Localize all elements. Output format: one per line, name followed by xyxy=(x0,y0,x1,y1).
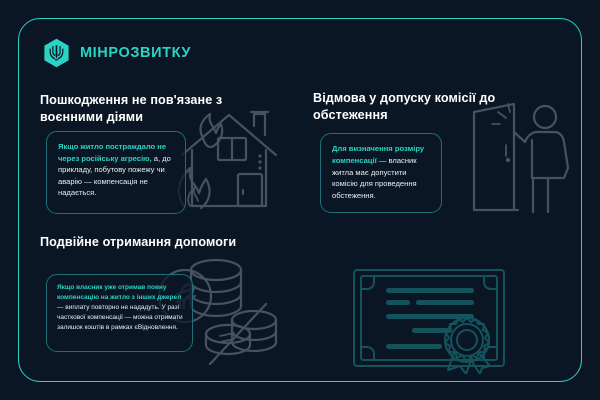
callout-text: Якщо житло постраждало не через російськ… xyxy=(58,141,175,199)
section-heading-double-receipt-of-aid: Подвійне отримання допомоги xyxy=(40,234,260,251)
brand-logo: МІНРОЗВИТКУ xyxy=(43,38,191,68)
callout-accent-text: Якщо житло постраждало не через російськ… xyxy=(58,142,166,163)
section-heading-refusal-of-commission-access: Відмова у допуску комісії до обстеження xyxy=(313,90,548,125)
section-heading-damage-not-war-related: Пошкодження не пов'язане з воєнними діям… xyxy=(40,92,275,127)
callout-body-text: — виплату повторно не нададуть. У разі ч… xyxy=(57,304,183,331)
callout-accent-text: Якщо власник уже отримав повну компенсац… xyxy=(57,284,181,301)
callout-text: Якщо власник уже отримав повну компенсац… xyxy=(57,283,183,333)
ukraine-trident-shield-icon xyxy=(43,38,70,68)
brand-name: МІНРОЗВИТКУ xyxy=(80,45,191,61)
callout-double-receipt-of-aid: Якщо власник уже отримав повну компенсац… xyxy=(46,274,193,352)
callout-text: Для визначення розміру компенсації — вла… xyxy=(332,143,432,202)
certificate-with-seal-icon xyxy=(350,262,510,374)
callout-refusal-of-commission-access: Для визначення розміру компенсації — вла… xyxy=(320,133,442,213)
callout-damage-not-war-related: Якщо житло постраждало не через російськ… xyxy=(46,131,186,214)
infographic-poster: МІНРОЗВИТКУ xyxy=(0,0,600,400)
